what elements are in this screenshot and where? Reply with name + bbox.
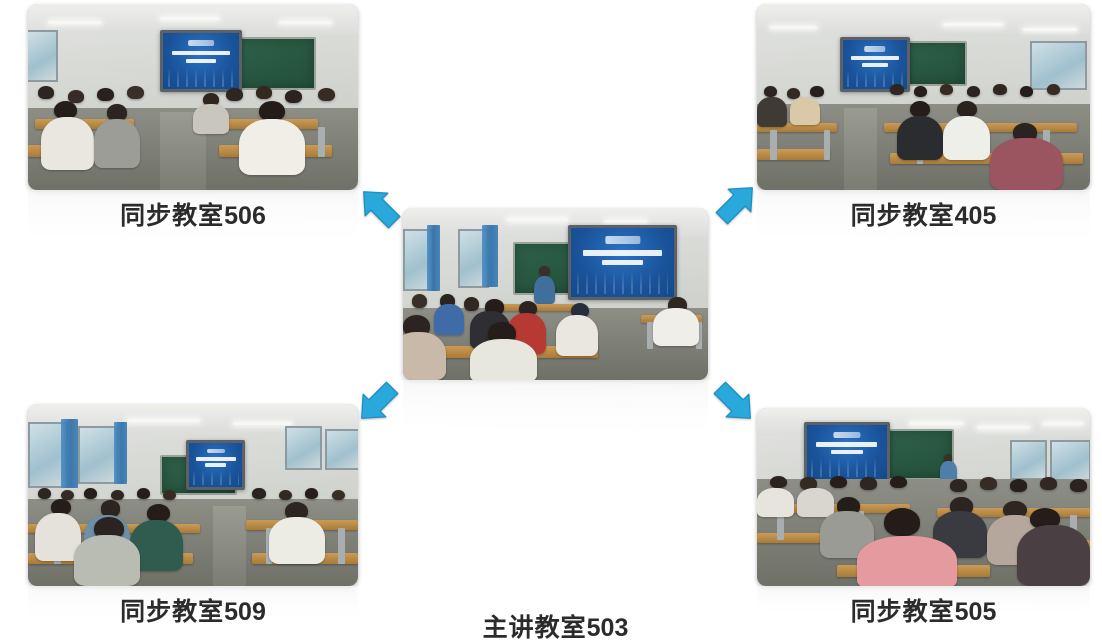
caption-405-number: 405 [955, 202, 997, 230]
classroom-card-503-main[interactable]: 主讲教室503 [403, 208, 708, 380]
classroom-photo-503 [403, 208, 708, 380]
projection-screen [160, 30, 242, 92]
projection-screen [568, 225, 678, 300]
classroom-photo-405 [757, 4, 1090, 190]
classroom-photo-505 [757, 408, 1090, 586]
caption-509: 同步教室509 [28, 592, 358, 628]
university-logo-icon [605, 236, 640, 244]
classroom-card-505[interactable]: 同步教室505 [757, 408, 1090, 586]
classroom-card-405[interactable]: 同步教室405 [757, 4, 1090, 190]
caption-505-text: 同步教室 [851, 599, 955, 626]
arrow-to-505-icon[interactable] [708, 376, 760, 428]
foreground-person-pink [857, 536, 957, 586]
caption-509-text: 同步教室 [120, 599, 224, 626]
caption-505: 同步教室505 [757, 592, 1090, 628]
caption-503-number: 503 [587, 614, 629, 642]
caption-506: 同步教室506 [28, 196, 358, 232]
foreground-person [990, 138, 1063, 190]
caption-506-text: 同步教室 [120, 203, 224, 230]
arrow-to-509-icon[interactable] [352, 376, 404, 428]
caption-405-text: 同步教室 [851, 203, 955, 230]
classroom-card-509[interactable]: 同步教室509 [28, 404, 358, 586]
arrow-to-405-icon[interactable] [710, 178, 762, 230]
caption-505-number: 505 [955, 598, 997, 626]
arrow-to-506-icon[interactable] [356, 182, 404, 234]
projection-screen [804, 422, 890, 481]
classroom-card-506[interactable]: 同步教室506 [28, 4, 358, 190]
photo-reflection-503 [403, 380, 708, 436]
slide-line-2 [602, 260, 643, 266]
teacher [534, 266, 555, 304]
classroom-photo-509 [28, 404, 358, 586]
slide-line-1 [583, 250, 662, 256]
chalkboard [904, 41, 968, 86]
caption-506-number: 506 [224, 202, 266, 230]
projection-screen [186, 440, 245, 490]
caption-509-number: 509 [224, 598, 266, 626]
caption-503-text: 主讲教室 [483, 615, 587, 642]
caption-405: 同步教室405 [757, 196, 1090, 232]
classroom-photo-506 [28, 4, 358, 190]
caption-503: 主讲教室503 [403, 608, 708, 644]
